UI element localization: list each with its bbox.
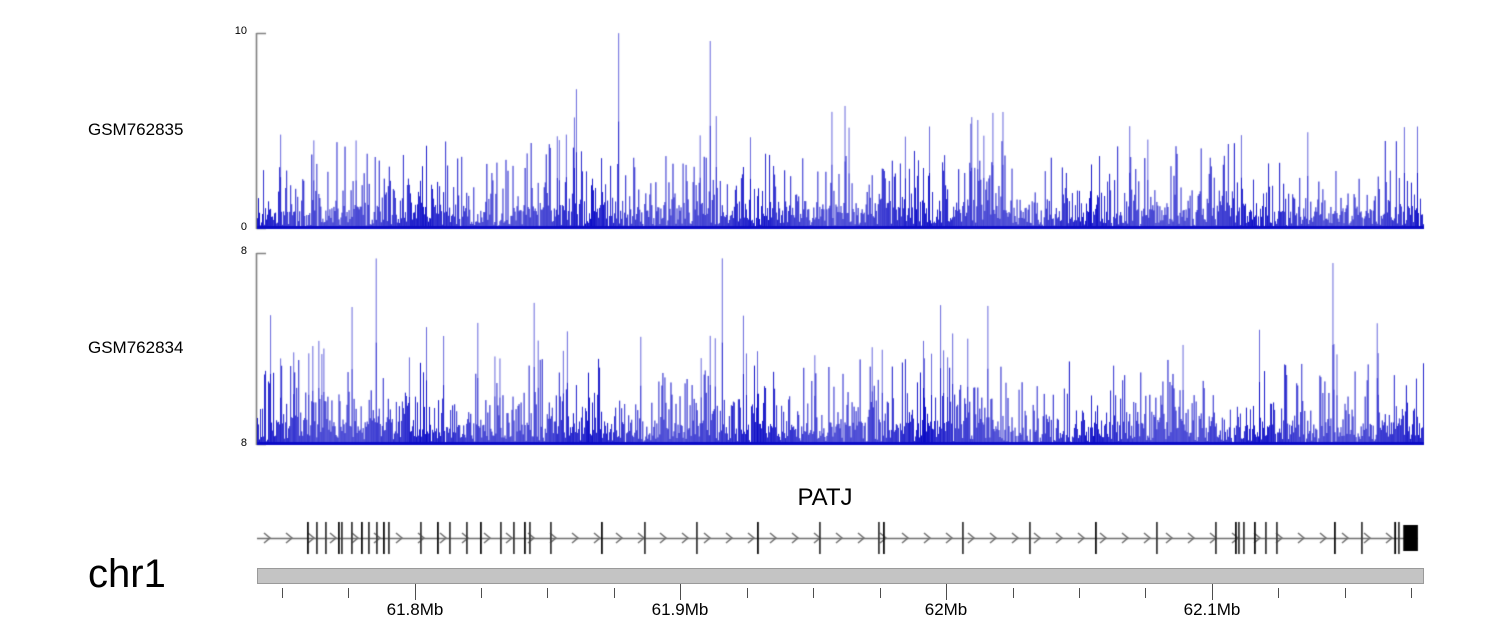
ruler-tick-label: 62.1Mb <box>1184 600 1241 620</box>
ruler-major-tick <box>415 584 416 600</box>
chromosome-label: chr1 <box>88 552 166 597</box>
ruler-major-tick <box>946 584 947 600</box>
ruler-tick-label: 62Mb <box>925 600 968 620</box>
ruler-minor-tick <box>813 588 814 598</box>
ruler-minor-tick <box>547 588 548 598</box>
ruler-minor-tick <box>880 588 881 598</box>
gene-name-label[interactable]: PATJ <box>797 484 852 512</box>
track-label-gsm762835: GSM762835 <box>88 120 183 140</box>
ruler-tick-label: 61.8Mb <box>387 600 444 620</box>
coverage-plot-track-1[interactable] <box>243 251 1426 449</box>
ruler-minor-tick <box>1079 588 1080 598</box>
ruler-minor-tick <box>1345 588 1346 598</box>
ruler-major-tick <box>680 584 681 600</box>
genome-browser-view: GSM762835 10 0 GSM762834 8 8 PATJ chr1 6… <box>0 0 1500 640</box>
ruler-minor-tick <box>747 588 748 598</box>
ruler-minor-tick <box>1411 588 1412 598</box>
coverage-plot-track-0[interactable] <box>243 31 1426 233</box>
ruler-minor-tick <box>282 588 283 598</box>
gene-model-patj[interactable] <box>0 512 1500 564</box>
ruler-minor-tick <box>614 588 615 598</box>
ruler-minor-tick <box>1278 588 1279 598</box>
ruler-minor-tick <box>1013 588 1014 598</box>
track-label-gsm762834: GSM762834 <box>88 338 183 358</box>
ruler-minor-tick <box>348 588 349 598</box>
ruler-major-tick <box>1212 584 1213 600</box>
chromosome-ideogram-bar[interactable] <box>257 568 1424 584</box>
ruler-tick-label: 61.9Mb <box>652 600 709 620</box>
ruler-minor-tick <box>1145 588 1146 598</box>
ruler-minor-tick <box>481 588 482 598</box>
